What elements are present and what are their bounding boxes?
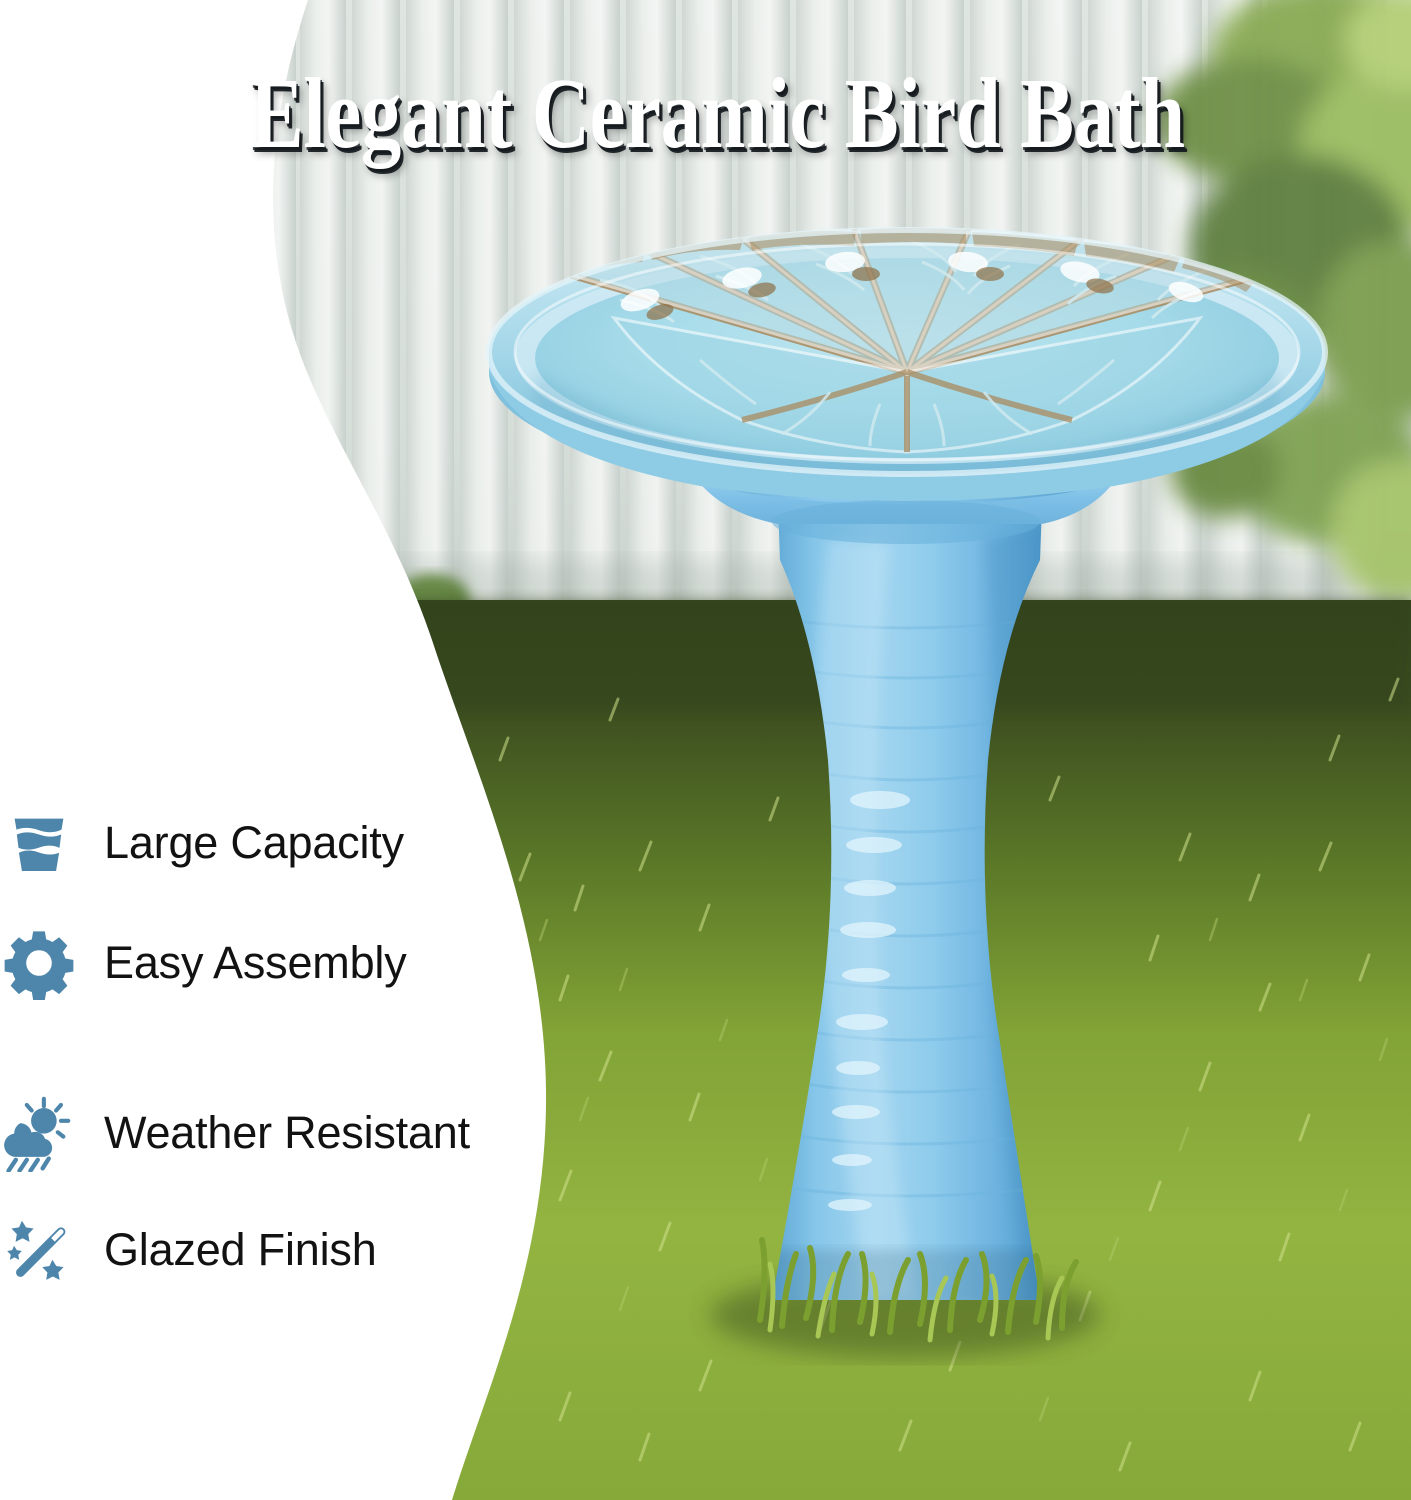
sun-cloud-rain-icon xyxy=(0,1094,78,1172)
feature-item-glazed-finish: Glazed Finish xyxy=(0,1207,377,1293)
magic-wand-icon xyxy=(0,1211,78,1289)
feature-item-weather-resistant: Weather Resistant xyxy=(0,1090,470,1176)
feature-label: Easy Assembly xyxy=(104,937,407,989)
feature-label: Large Capacity xyxy=(104,817,404,869)
infographic-canvas: Elegant Ceramic Bird Bath Large Capacity xyxy=(0,0,1411,1500)
feature-label: Weather Resistant xyxy=(104,1107,470,1159)
feature-item-easy-assembly: Easy Assembly xyxy=(0,920,407,1006)
gear-icon xyxy=(0,924,78,1002)
water-cup-icon xyxy=(0,804,78,882)
feature-item-large-capacity: Large Capacity xyxy=(0,800,404,886)
feature-label: Glazed Finish xyxy=(104,1224,377,1276)
